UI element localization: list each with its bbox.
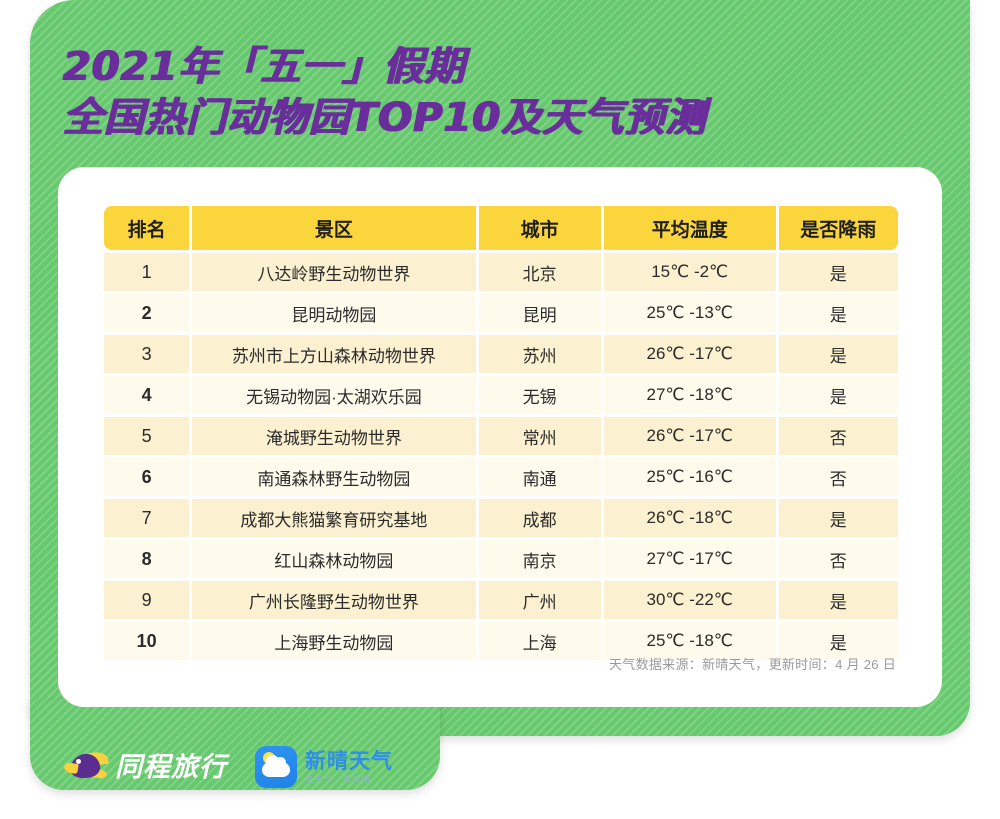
table-header-row: 排名 景区 城市 平均温度 是否降雨 [104,206,898,250]
cell-spot: 上海野生动物园 [192,622,478,660]
table-row: 2 昆明动物园 昆明 25℃ -13℃ 是 [104,294,898,332]
cell-city: 广州 [479,581,604,619]
cell-city: 北京 [479,253,604,291]
column-header-rank: 排名 [104,206,192,250]
cell-temp: 27℃ -17℃ [604,540,779,578]
cell-rain: 否 [779,540,898,578]
cell-rain: 是 [779,253,898,291]
cell-city: 无锡 [479,376,604,414]
cell-rain: 是 [779,376,898,414]
ranking-table: 排名 景区 城市 平均温度 是否降雨 1 八达岭野生动物世界 北京 15℃ -2… [104,203,898,663]
column-header-rain: 是否降雨 [779,206,898,250]
data-source-note: 天气数据来源：新晴天气，更新时间：4 月 26 日 [609,654,896,673]
cell-rank: 9 [104,581,192,619]
weather-app-icon [255,746,297,788]
table-row: 3 苏州市上方山森林动物世界 苏州 26℃ -17℃ 是 [104,335,898,373]
cell-rain: 是 [779,499,898,537]
table-row: 9 广州长隆野生动物世界 广州 30℃ -22℃ 是 [104,581,898,619]
column-header-city: 城市 [479,206,604,250]
cell-spot: 八达岭野生动物世界 [192,253,478,291]
cell-rank: 10 [104,622,192,660]
cell-rain: 是 [779,335,898,373]
cell-spot: 成都大熊猫繁育研究基地 [192,499,478,537]
cell-rank: 5 [104,417,192,455]
xinqing-logo-text: 新晴天气 [305,751,393,772]
xinqing-tagline: 查天气，看新晴 [305,776,393,784]
cell-spot: 南通森林野生动物园 [192,458,478,496]
tongcheng-logo-text: 同程旅行 [115,752,227,782]
poster-root: 2021年「五一」假期 全国热门动物园TOP10及天气预测 排名 景区 城市 平… [0,0,1000,819]
column-header-spot: 景区 [192,206,478,250]
cell-rain: 否 [779,458,898,496]
table-row: 5 淹城野生动物世界 常州 26℃ -17℃ 否 [104,417,898,455]
cell-temp: 25℃ -13℃ [604,294,779,332]
cell-city: 上海 [479,622,604,660]
cell-spot: 无锡动物园·太湖欢乐园 [192,376,478,414]
cell-rain: 否 [779,417,898,455]
cell-city: 昆明 [479,294,604,332]
logo-bar: 同程旅行 新晴天气 查天气，看新晴 [64,746,393,788]
cell-rain: 是 [779,294,898,332]
cell-rain: 是 [779,581,898,619]
cell-rank: 4 [104,376,192,414]
tongcheng-logo[interactable]: 同程旅行 [64,752,227,782]
table-row: 1 八达岭野生动物世界 北京 15℃ -2℃ 是 [104,253,898,291]
cell-temp: 26℃ -17℃ [604,417,779,455]
title-line-2: 全国热门动物园TOP10及天气预测 [62,95,922,141]
column-header-temp: 平均温度 [604,206,779,250]
cell-city: 南通 [479,458,604,496]
cell-rank: 2 [104,294,192,332]
table-row: 8 红山森林动物园 南京 27℃ -17℃ 否 [104,540,898,578]
xinqing-logo[interactable]: 新晴天气 查天气，看新晴 [255,746,393,788]
cell-city: 成都 [479,499,604,537]
xinqing-logo-words: 新晴天气 查天气，看新晴 [305,751,393,784]
cell-rank: 8 [104,540,192,578]
cell-spot: 苏州市上方山森林动物世界 [192,335,478,373]
cell-temp: 27℃ -18℃ [604,376,779,414]
cell-temp: 15℃ -2℃ [604,253,779,291]
cell-spot: 广州长隆野生动物世界 [192,581,478,619]
cell-temp: 30℃ -22℃ [604,581,779,619]
cell-temp: 25℃ -16℃ [604,458,779,496]
cell-temp: 26℃ -18℃ [604,499,779,537]
cell-rank: 1 [104,253,192,291]
cell-spot: 淹城野生动物世界 [192,417,478,455]
page-title: 2021年「五一」假期 全国热门动物园TOP10及天气预测 [62,44,922,141]
bird-logo-icon [64,752,108,782]
cell-spot: 红山森林动物园 [192,540,478,578]
cell-temp: 26℃ -17℃ [604,335,779,373]
table-row: 4 无锡动物园·太湖欢乐园 无锡 27℃ -18℃ 是 [104,376,898,414]
cell-city: 苏州 [479,335,604,373]
cell-rank: 7 [104,499,192,537]
table-row: 7 成都大熊猫繁育研究基地 成都 26℃ -18℃ 是 [104,499,898,537]
title-line-1: 2021年「五一」假期 [62,44,464,90]
cell-city: 常州 [479,417,604,455]
cell-spot: 昆明动物园 [192,294,478,332]
cell-rank: 6 [104,458,192,496]
cell-rank: 3 [104,335,192,373]
content-card: 排名 景区 城市 平均温度 是否降雨 1 八达岭野生动物世界 北京 15℃ -2… [58,167,942,707]
cell-city: 南京 [479,540,604,578]
table-row: 6 南通森林野生动物园 南通 25℃ -16℃ 否 [104,458,898,496]
